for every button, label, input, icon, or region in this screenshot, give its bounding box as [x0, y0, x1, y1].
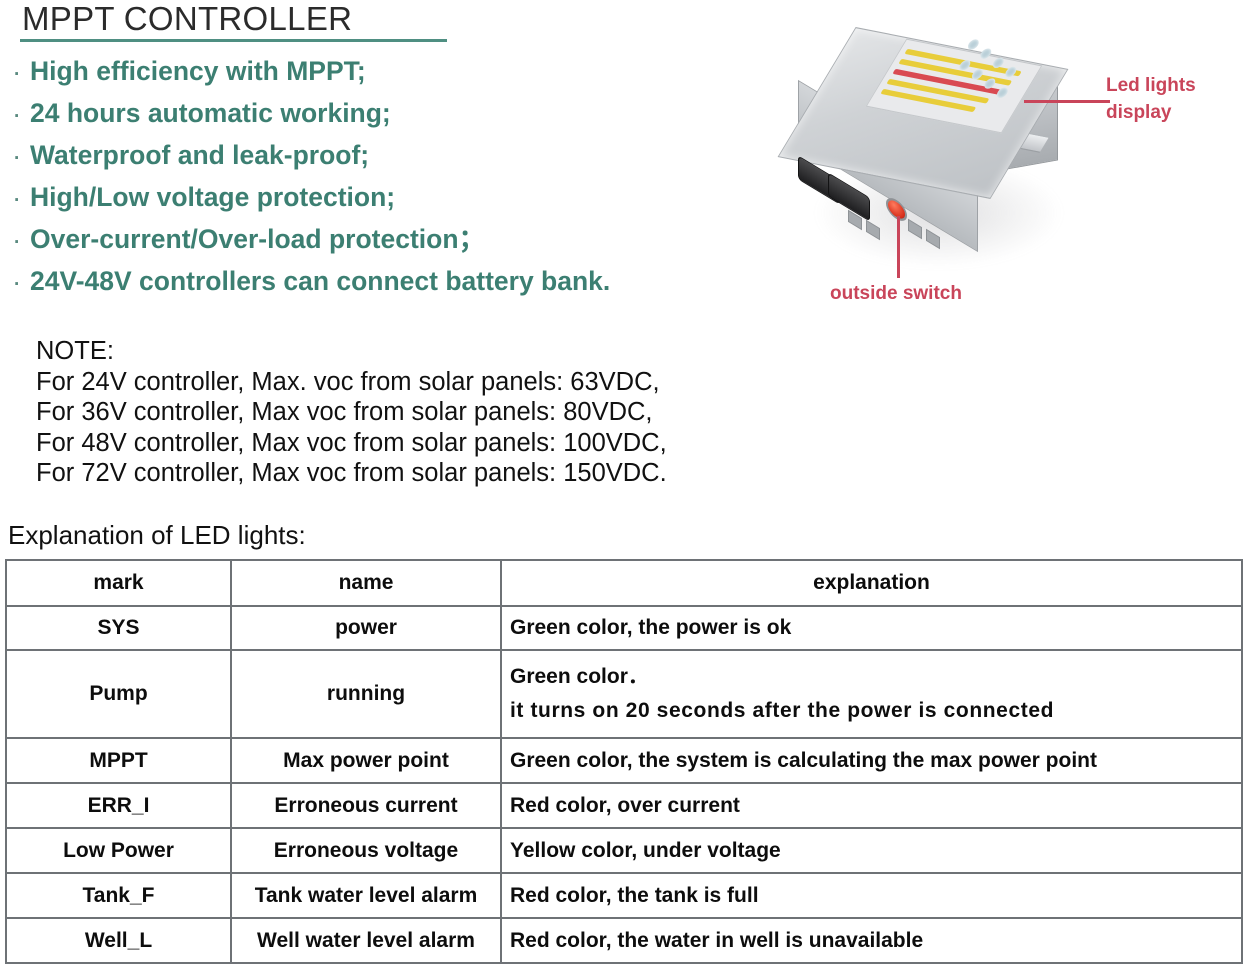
note-line: For 24V controller, Max. voc from solar … — [36, 367, 667, 398]
feature-item: · 24V-48V controllers can connect batter… — [14, 260, 774, 302]
feature-item: · High/Low voltage protection; — [14, 176, 774, 218]
bullet-icon: · — [14, 54, 30, 96]
cell-explanation: Green color, the system is calculating t… — [501, 738, 1242, 783]
switch-callout-label: outside switch — [830, 280, 962, 307]
cell-explanation: Yellow color, under voltage — [501, 828, 1242, 873]
note-line: For 72V controller, Max voc from solar p… — [36, 458, 667, 489]
note-line: For 48V controller, Max voc from solar p… — [36, 428, 667, 459]
feature-item: · Over-current/Over-load protection； — [14, 218, 774, 260]
cell-explanation: Red color, the water in well is unavaila… — [501, 918, 1242, 963]
table-row: Pump running Green color． it turns on 20… — [6, 650, 1242, 738]
note-block: NOTE: For 24V controller, Max. voc from … — [36, 336, 667, 489]
bullet-icon: · — [14, 138, 30, 180]
feature-label: High/Low voltage protection; — [30, 176, 395, 218]
cell-explanation: Green color． it turns on 20 seconds afte… — [501, 650, 1242, 738]
cell-mark: Low Power — [6, 828, 231, 873]
cell-name: running — [231, 650, 501, 738]
table-row: MPPT Max power point Green color, the sy… — [6, 738, 1242, 783]
cell-name: power — [231, 606, 501, 650]
cell-name: Erroneous current — [231, 783, 501, 828]
cell-mark: ERR_I — [6, 783, 231, 828]
cell-name: Max power point — [231, 738, 501, 783]
cell-mark: Well_L — [6, 918, 231, 963]
table-row: SYS power Green color, the power is ok — [6, 606, 1242, 650]
cell-explanation-line1: Green color． — [510, 660, 1233, 694]
led-callout-line2: display — [1106, 99, 1196, 126]
page-title: MPPT CONTROLLER — [22, 1, 352, 37]
cell-explanation: Red color, the tank is full — [501, 873, 1242, 918]
bullet-icon: · — [14, 264, 30, 306]
table-row: Tank_F Tank water level alarm Red color,… — [6, 873, 1242, 918]
led-explanation-table: mark name explanation SYS power Green co… — [5, 559, 1243, 964]
cell-name: Tank water level alarm — [231, 873, 501, 918]
product-photo: Led lights display outside switch — [786, 40, 1249, 330]
title-underline — [20, 39, 447, 42]
bullet-icon: · — [14, 222, 30, 264]
feature-item: · High efficiency with MPPT; — [14, 50, 774, 92]
feature-label: Waterproof and leak-proof; — [30, 134, 369, 176]
note-line: For 36V controller, Max voc from solar p… — [36, 397, 667, 428]
feature-item: · 24 hours automatic working; — [14, 92, 774, 134]
table-row: Low Power Erroneous voltage Yellow color… — [6, 828, 1242, 873]
cell-explanation: Green color, the power is ok — [501, 606, 1242, 650]
note-heading: NOTE: — [36, 336, 667, 367]
switch-callout-leader-line — [897, 216, 900, 278]
led-callout-label: Led lights display — [1106, 72, 1196, 126]
cell-name: Erroneous voltage — [231, 828, 501, 873]
feature-label: Over-current/Over-load protection； — [30, 218, 485, 260]
led-callout-leader-line — [1024, 100, 1110, 103]
cell-mark: Pump — [6, 650, 231, 738]
column-header-explanation: explanation — [501, 560, 1242, 606]
feature-label: 24 hours automatic working; — [30, 92, 391, 134]
column-header-name: name — [231, 560, 501, 606]
table-header-row: mark name explanation — [6, 560, 1242, 606]
cell-mark: Tank_F — [6, 873, 231, 918]
feature-item: · Waterproof and leak-proof; — [14, 134, 774, 176]
bullet-icon: · — [14, 96, 30, 138]
cell-explanation-line2: it turns on 20 seconds after the power i… — [510, 694, 1233, 728]
feature-list: · High efficiency with MPPT; · 24 hours … — [14, 50, 774, 302]
cell-explanation: Red color, over current — [501, 783, 1242, 828]
cell-name: Well water level alarm — [231, 918, 501, 963]
cell-mark: MPPT — [6, 738, 231, 783]
table-row: ERR_I Erroneous current Red color, over … — [6, 783, 1242, 828]
led-table-heading: Explanation of LED lights: — [8, 519, 306, 551]
led-callout-line1: Led lights — [1106, 72, 1196, 99]
bullet-icon: · — [14, 180, 30, 222]
column-header-mark: mark — [6, 560, 231, 606]
feature-label: High efficiency with MPPT; — [30, 50, 366, 92]
feature-label: 24V-48V controllers can connect battery … — [30, 260, 610, 302]
cell-mark: SYS — [6, 606, 231, 650]
table-row: Well_L Well water level alarm Red color,… — [6, 918, 1242, 963]
